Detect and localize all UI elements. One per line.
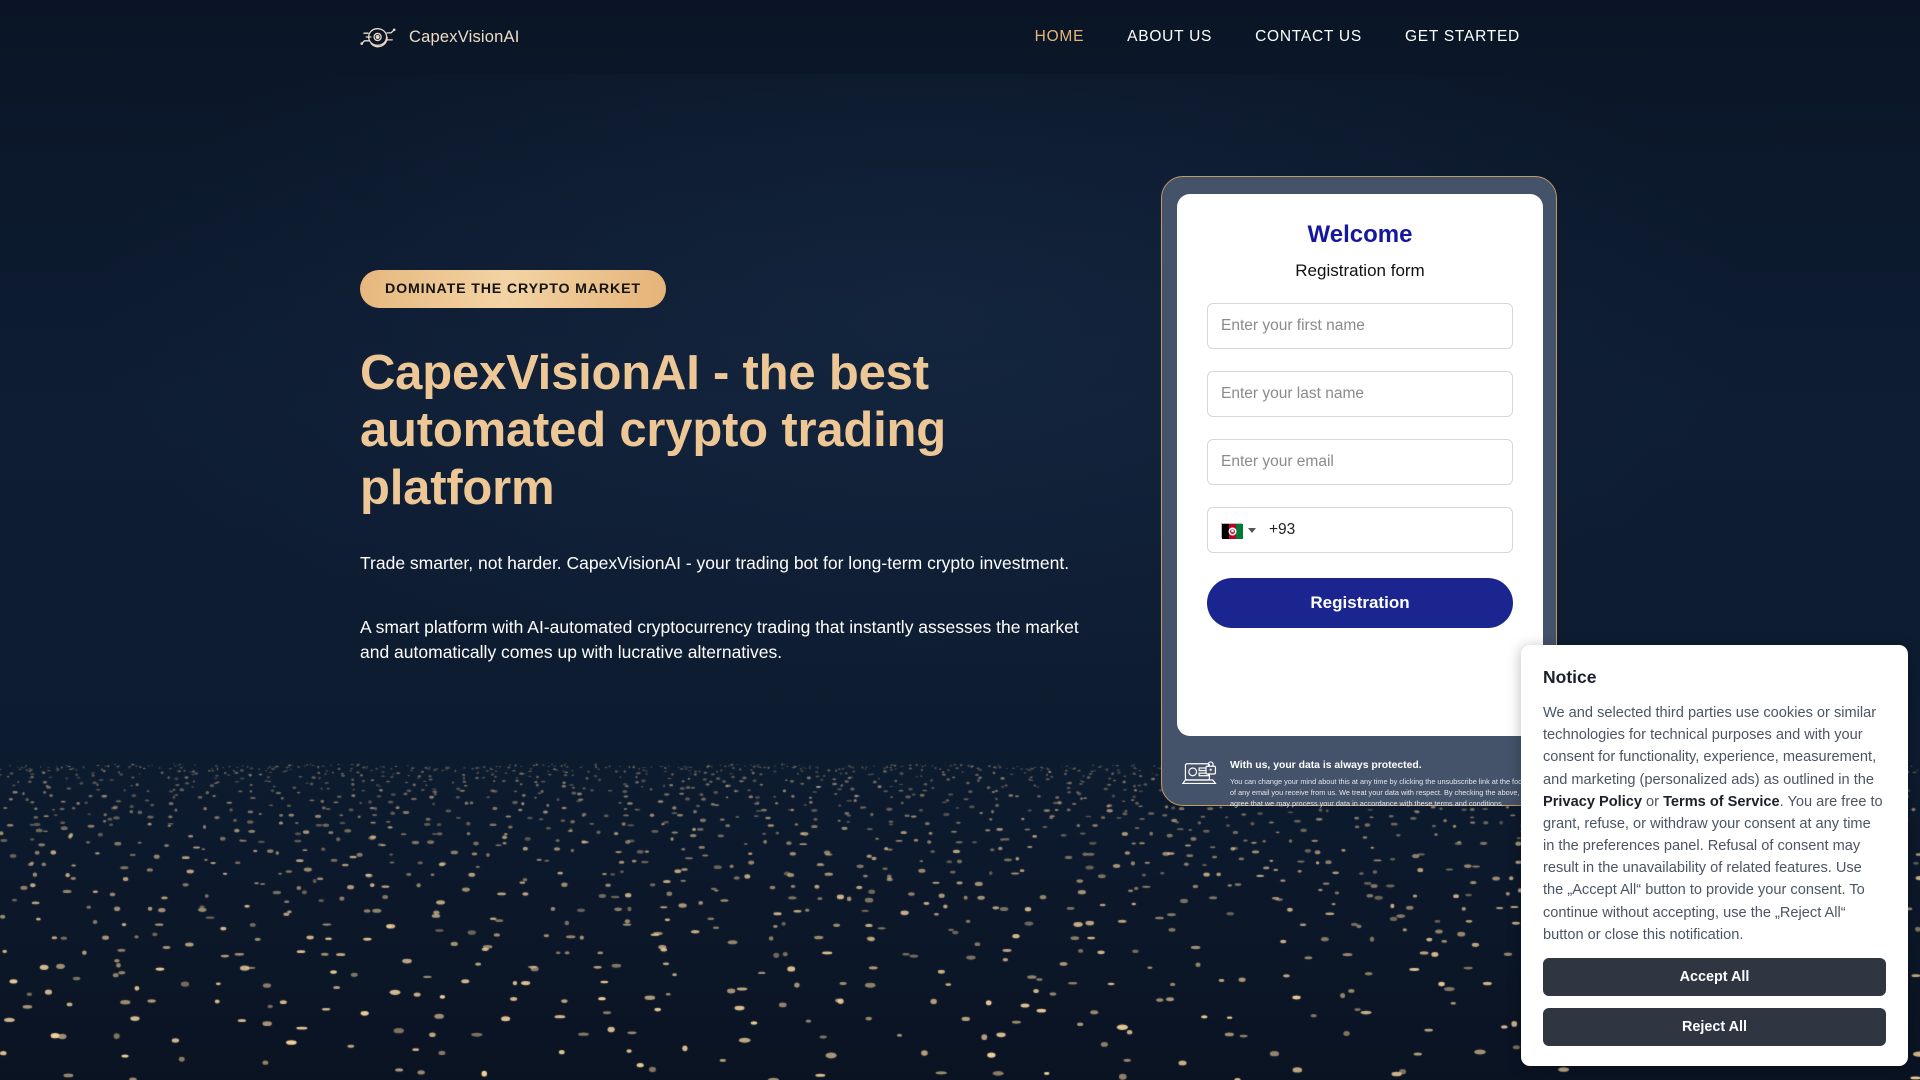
phone-dial-code: +93 — [1269, 521, 1295, 539]
cookie-body-part2: or — [1642, 794, 1663, 810]
hero-section: DOMINATE THE CRYPTO MARKET CapexVisionAI… — [360, 270, 1120, 665]
accept-all-button[interactable]: Accept All — [1543, 958, 1886, 996]
hero-badge: DOMINATE THE CRYPTO MARKET — [360, 270, 666, 308]
form-subtitle: Registration form — [1207, 261, 1513, 281]
last-name-field[interactable] — [1207, 371, 1513, 417]
hero-title: CapexVisionAI - the best automated crypt… — [360, 345, 1060, 517]
registration-card: Welcome Registration form — [1161, 176, 1557, 806]
chevron-down-icon[interactable] — [1248, 528, 1256, 533]
nav-item-contact-us[interactable]: CONTACT US — [1255, 28, 1362, 46]
privacy-note: With us, your data is always protected. … — [1182, 755, 1538, 809]
cookie-body-part3: . You are free to grant, refuse, or with… — [1543, 794, 1883, 943]
main-navigation: HOME ABOUT US CONTACT US GET STARTED — [1035, 28, 1520, 46]
privacy-body: You can change your mind about this at a… — [1230, 776, 1538, 809]
laptop-lock-icon — [1182, 759, 1218, 789]
flag-afghanistan-icon — [1221, 523, 1242, 538]
brand-name: CapexVisionAI — [409, 28, 520, 47]
phone-field[interactable]: +93 — [1207, 507, 1513, 553]
last-name-input[interactable] — [1221, 372, 1499, 416]
privacy-policy-link[interactable]: Privacy Policy — [1543, 794, 1642, 810]
cookie-body-part1: We and selected third parties use cookie… — [1543, 705, 1876, 788]
cookie-notice-title: Notice — [1543, 667, 1886, 688]
first-name-field[interactable] — [1207, 303, 1513, 349]
reject-all-button[interactable]: Reject All — [1543, 1008, 1886, 1046]
email-field[interactable] — [1207, 439, 1513, 485]
hero-description: A smart platform with AI-automated crypt… — [360, 615, 1100, 665]
first-name-input[interactable] — [1221, 304, 1499, 348]
cookie-notice-dialog: Notice We and selected third parties use… — [1521, 645, 1908, 1066]
privacy-title: With us, your data is always protected. — [1230, 760, 1422, 771]
email-input[interactable] — [1221, 440, 1499, 484]
site-header: CapexVisionAI HOME ABOUT US CONTACT US G… — [0, 0, 1920, 74]
nav-item-get-started[interactable]: GET STARTED — [1405, 28, 1520, 46]
registration-submit-button[interactable]: Registration — [1207, 578, 1513, 628]
eye-circuit-icon — [360, 22, 398, 52]
nav-item-home[interactable]: HOME — [1035, 28, 1085, 46]
nav-item-about-us[interactable]: ABOUT US — [1127, 28, 1212, 46]
brand-logo[interactable]: CapexVisionAI — [360, 22, 520, 52]
cookie-notice-body: We and selected third parties use cookie… — [1543, 702, 1886, 946]
hero-subtitle: Trade smarter, not harder. CapexVisionAI… — [360, 551, 1105, 576]
registration-form-panel: Welcome Registration form — [1177, 194, 1543, 736]
terms-of-service-link[interactable]: Terms of Service — [1663, 794, 1780, 810]
form-welcome-heading: Welcome — [1207, 221, 1513, 249]
